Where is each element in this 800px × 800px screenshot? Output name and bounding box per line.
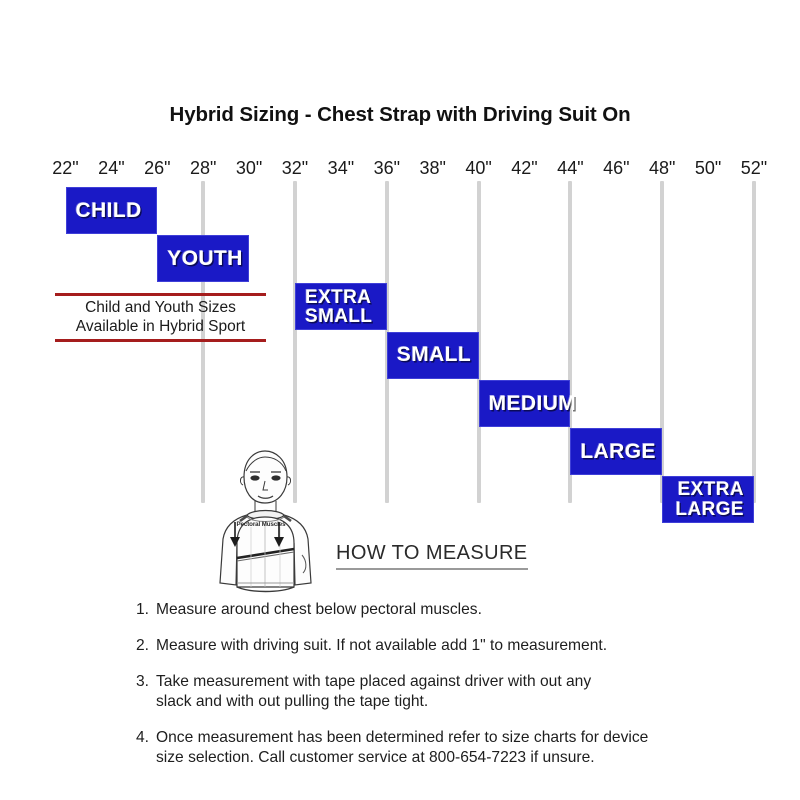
axis-tick-label: 50" <box>695 158 721 179</box>
size-bar-youth: YOUTH <box>157 235 249 282</box>
axis-tick-label: 32" <box>282 158 308 179</box>
axis-tick-label: 26" <box>144 158 170 179</box>
axis-tick-label: 42" <box>511 158 537 179</box>
measurement-instructions: 1.Measure around chest below pectoral mu… <box>136 600 736 784</box>
size-bar-extra-small: EXTRA SMALL <box>295 283 387 330</box>
chart-title: Hybrid Sizing - Chest Strap with Driving… <box>0 103 800 127</box>
size-bar-large: LARGE <box>570 428 662 475</box>
size-bar-label: SMALL <box>388 344 478 365</box>
axis-tick-label: 24" <box>98 158 124 179</box>
size-bar-label: EXTRA SMALL <box>296 288 386 327</box>
axis-tick-label: 36" <box>374 158 400 179</box>
instruction-item: 4.Once measurement has been determined r… <box>136 728 736 768</box>
sizing-chart: Hybrid Sizing - Chest Strap with Driving… <box>0 0 800 800</box>
instruction-item: 3.Take measurement with tape placed agai… <box>136 672 736 712</box>
size-bar-label: MEDIUM <box>480 393 570 414</box>
instruction-number: 3. <box>136 672 156 692</box>
size-bar-label: LARGE <box>571 441 661 462</box>
axis-tick-label: 40" <box>465 158 491 179</box>
axis-tick-label: 30" <box>236 158 262 179</box>
note-text: Child and Youth Sizes Available in Hybri… <box>55 296 266 339</box>
size-bar-medium: MEDIUM <box>479 380 571 427</box>
size-bar-extra-large: EXTRA LARGE <box>662 476 754 523</box>
size-bar-label: CHILD <box>67 200 157 221</box>
instruction-text: Measure with driving suit. If not availa… <box>156 636 736 656</box>
size-bar-small: SMALL <box>387 332 479 379</box>
instruction-text: Once measurement has been determined ref… <box>156 728 736 768</box>
gridline <box>752 181 756 503</box>
size-bar-label: YOUTH <box>158 248 248 269</box>
axis-tick-label: 28" <box>190 158 216 179</box>
note-rule-bottom <box>55 339 266 342</box>
size-bar-label: EXTRA LARGE <box>663 480 753 519</box>
size-bar-child: CHILD <box>66 187 158 234</box>
instruction-text: Measure around chest below pectoral musc… <box>156 600 736 620</box>
axis-tick-label: 44" <box>557 158 583 179</box>
pectoral-muscles-caption: Pectoral Muscles <box>222 521 300 528</box>
instruction-number: 2. <box>136 636 156 656</box>
how-to-measure-heading: HOW TO MEASURE <box>336 542 528 570</box>
driver-illustration <box>203 443 328 595</box>
instruction-number: 1. <box>136 600 156 620</box>
axis-tick-label: 48" <box>649 158 675 179</box>
axis-tick-label: 22" <box>52 158 78 179</box>
axis-tick-label: 34" <box>328 158 354 179</box>
instruction-text: Take measurement with tape placed agains… <box>156 672 736 712</box>
child-youth-note: Child and Youth Sizes Available in Hybri… <box>55 293 266 342</box>
axis-tick-label: 52" <box>741 158 767 179</box>
instruction-item: 1.Measure around chest below pectoral mu… <box>136 600 736 620</box>
axis-tick-label: 46" <box>603 158 629 179</box>
instruction-number: 4. <box>136 728 156 748</box>
instruction-item: 2.Measure with driving suit. If not avai… <box>136 636 736 656</box>
axis-tick-label: 38" <box>419 158 445 179</box>
